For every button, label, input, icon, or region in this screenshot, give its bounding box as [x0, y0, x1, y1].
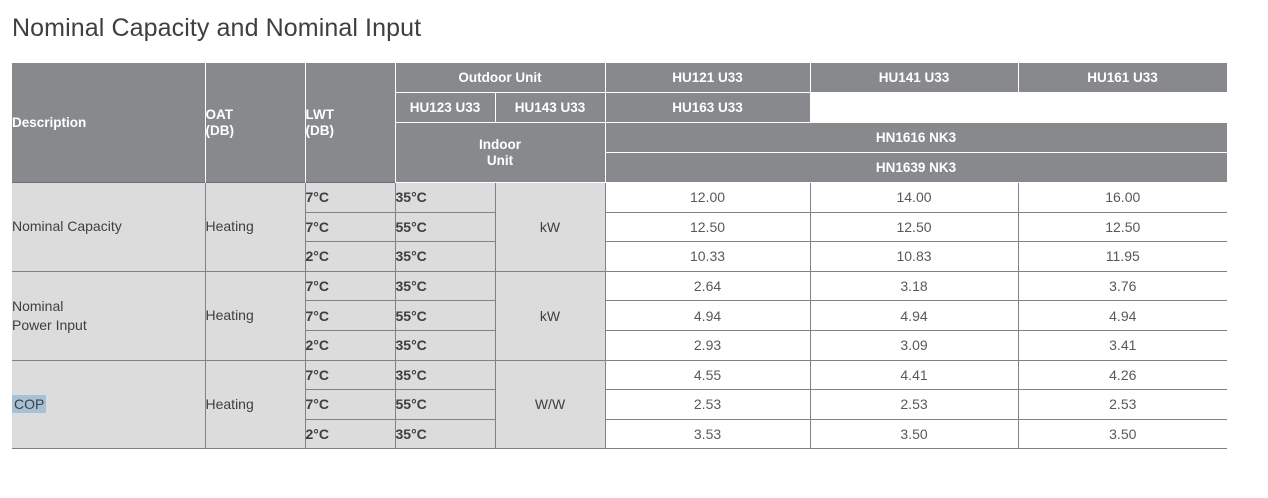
- selected-text-highlight: COP: [12, 395, 46, 413]
- cell-lwt: 55°C: [395, 301, 495, 331]
- cell-oat: 7°C: [305, 360, 395, 390]
- cell-value: 4.55: [605, 360, 810, 390]
- cell-value: 3.50: [810, 419, 1018, 449]
- cell-value: 3.76: [1018, 271, 1227, 301]
- cell-oat: 7°C: [305, 390, 395, 420]
- cell-value: 2.53: [605, 390, 810, 420]
- row-group-mode-3: Heating: [205, 360, 305, 449]
- page-title: Nominal Capacity and Nominal Input: [12, 14, 421, 43]
- cell-value: 4.41: [810, 360, 1018, 390]
- header-indoor-unit-line1: Indoor: [479, 137, 521, 152]
- header-indoor-model-1: HN1616 NK3: [605, 123, 1227, 153]
- table-row: NominalPower InputHeating7°C35°CkW2.643.…: [12, 271, 1227, 301]
- cell-value: 11.95: [1018, 242, 1227, 272]
- cell-value: 4.26: [1018, 360, 1227, 390]
- header-description: Description: [12, 63, 205, 183]
- cell-lwt: 35°C: [395, 271, 495, 301]
- header-lwt-label: LWT: [306, 107, 335, 122]
- header-outdoor-model-2: HU141 U33: [810, 63, 1018, 93]
- cell-value: 4.94: [605, 301, 810, 331]
- cell-value: 12.00: [605, 183, 810, 213]
- cell-lwt: 55°C: [395, 390, 495, 420]
- header-indoor-model-2: HN1639 NK3: [605, 153, 1227, 183]
- table-row: Nominal CapacityHeating7°C35°CkW12.0014.…: [12, 183, 1227, 213]
- cell-value: 4.94: [810, 301, 1018, 331]
- cell-oat: 7°C: [305, 301, 395, 331]
- row-group-mode-label: Heating: [206, 396, 254, 412]
- cell-oat: 7°C: [305, 271, 395, 301]
- cell-oat: 2°C: [305, 419, 395, 449]
- cell-value: 16.00: [1018, 183, 1227, 213]
- cell-lwt: 35°C: [395, 242, 495, 272]
- row-group-mode-1: Heating: [205, 183, 305, 272]
- cell-oat: 7°C: [305, 183, 395, 213]
- cell-value: 12.50: [605, 212, 810, 242]
- cell-value: 2.64: [605, 271, 810, 301]
- cell-lwt: 35°C: [395, 360, 495, 390]
- cell-lwt: 35°C: [395, 330, 495, 360]
- row-group-description-2: NominalPower Input: [12, 271, 205, 360]
- row-group-description-1: Nominal Capacity: [12, 183, 205, 272]
- row-group-description-line1: Nominal Capacity: [12, 218, 122, 234]
- header-oat-sublabel: (DB): [206, 123, 235, 138]
- header-outdoor-model-alt-2: HU143 U33: [495, 93, 605, 123]
- row-group-unit-1: kW: [495, 183, 605, 272]
- cell-value: 12.50: [1018, 212, 1227, 242]
- row-group-mode-2: Heating: [205, 271, 305, 360]
- cell-value: 2.53: [810, 390, 1018, 420]
- header-outdoor-model-alt-3: HU163 U33: [605, 93, 810, 123]
- cell-value: 3.18: [810, 271, 1018, 301]
- cell-value: 2.93: [605, 330, 810, 360]
- row-group-mode-label: Heating: [206, 307, 254, 323]
- header-outdoor-unit-label: Outdoor Unit: [395, 63, 605, 93]
- cell-value: 14.00: [810, 183, 1018, 213]
- cell-value: 4.94: [1018, 301, 1227, 331]
- header-oat-label: OAT: [206, 107, 234, 122]
- row-group-unit-3: W/W: [495, 360, 605, 449]
- row-group-description-3: COP: [12, 360, 205, 449]
- header-oat: OAT(DB): [205, 63, 305, 183]
- row-group-description-line2: Power Input: [12, 317, 87, 333]
- header-outdoor-model-3: HU161 U33: [1018, 63, 1227, 93]
- cell-value: 10.83: [810, 242, 1018, 272]
- table-row: COPHeating7°C35°CW/W4.554.414.26: [12, 360, 1227, 390]
- cell-value: 3.50: [1018, 419, 1227, 449]
- cell-value: 10.33: [605, 242, 810, 272]
- cell-value: 3.53: [605, 419, 810, 449]
- cell-oat: 2°C: [305, 242, 395, 272]
- cell-lwt: 35°C: [395, 183, 495, 213]
- cell-lwt: 35°C: [395, 419, 495, 449]
- cell-value: 12.50: [810, 212, 1018, 242]
- header-outdoor-model-1: HU121 U33: [605, 63, 810, 93]
- cell-oat: 7°C: [305, 212, 395, 242]
- cell-lwt: 55°C: [395, 212, 495, 242]
- header-lwt-sublabel: (DB): [306, 123, 335, 138]
- header-outdoor-model-alt-1: HU123 U33: [395, 93, 495, 123]
- cell-value: 3.09: [810, 330, 1018, 360]
- nominal-capacity-table: DescriptionOAT(DB)LWT(DB)Outdoor UnitHU1…: [12, 63, 1228, 449]
- header-indoor-unit-line2: Unit: [487, 153, 513, 168]
- cell-oat: 2°C: [305, 330, 395, 360]
- row-group-description-line1: Nominal: [12, 298, 63, 314]
- row-group-unit-2: kW: [495, 271, 605, 360]
- header-indoor-unit-label: IndoorUnit: [395, 123, 605, 183]
- cell-value: 3.41: [1018, 330, 1227, 360]
- header-lwt: LWT(DB): [305, 63, 395, 183]
- table-header-row-1: DescriptionOAT(DB)LWT(DB)Outdoor UnitHU1…: [12, 63, 1227, 93]
- row-group-mode-label: Heating: [206, 218, 254, 234]
- cell-value: 2.53: [1018, 390, 1227, 420]
